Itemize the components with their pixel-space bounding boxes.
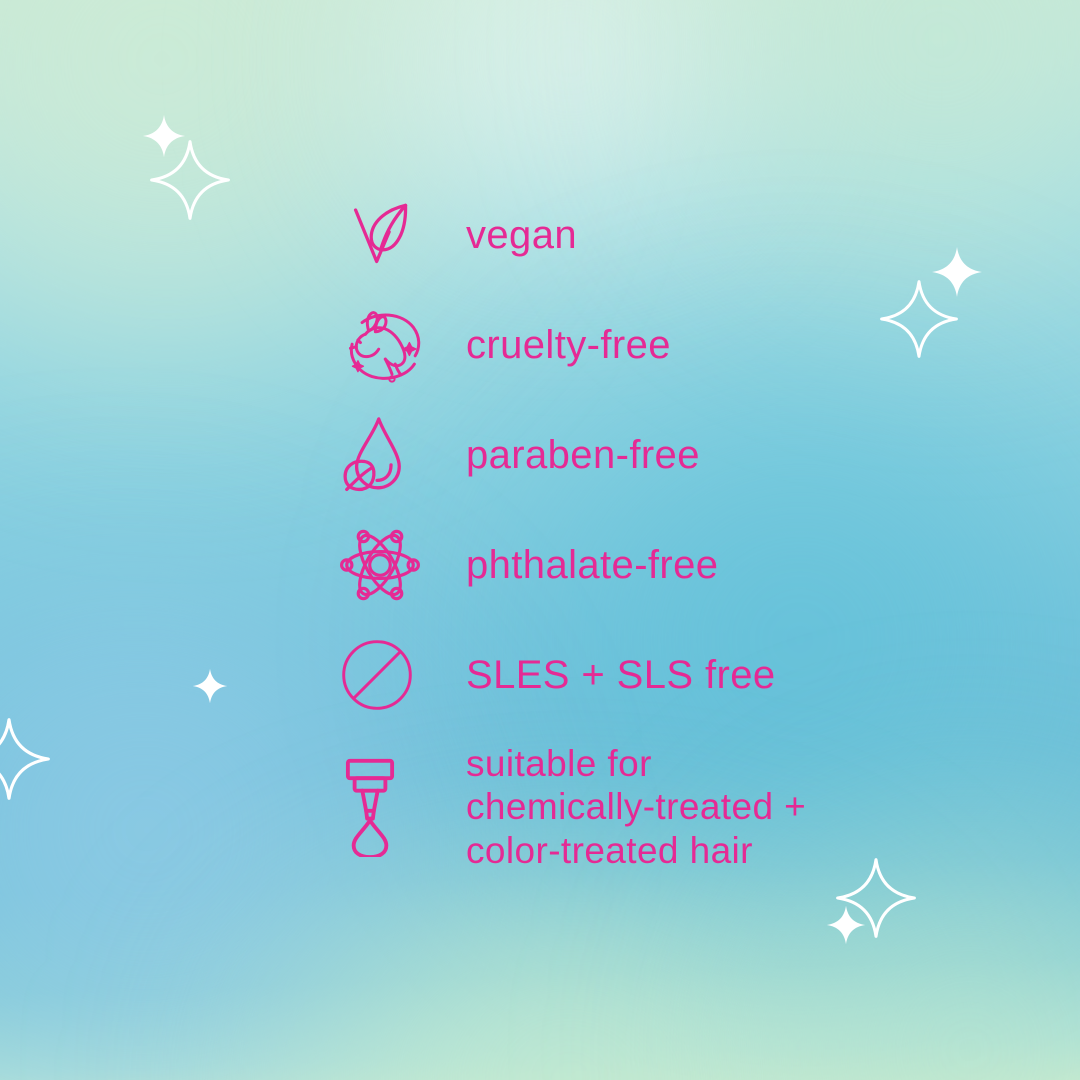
claim-label-paraben-free: paraben-free bbox=[466, 435, 700, 476]
claim-label-cruelty-free: cruelty-free bbox=[466, 325, 671, 366]
sparkle-bottom-right-small bbox=[826, 905, 866, 945]
claim-row-suitable-treated-hair: suitable for chemically-treated + color-… bbox=[340, 742, 1040, 872]
leaf-v-vegan-icon bbox=[340, 196, 426, 274]
claim-label-suitable-treated-hair: suitable for chemically-treated + color-… bbox=[466, 742, 806, 872]
dropper-pipette-icon bbox=[340, 757, 426, 857]
claims-list: vegancruelty-freeparaben-freephthalate-f… bbox=[340, 180, 1040, 872]
sparkle-top-left-large bbox=[150, 140, 230, 220]
sparkle-left-edge-large bbox=[0, 718, 50, 800]
claim-row-vegan: vegan bbox=[340, 180, 1040, 290]
sparkle-left-small bbox=[192, 668, 228, 704]
promo-graphic: vegancruelty-freeparaben-freephthalate-f… bbox=[0, 0, 1080, 1080]
prohibition-circle-icon bbox=[340, 638, 426, 712]
claim-label-phthalate-free: phthalate-free bbox=[466, 545, 718, 586]
leaping-bunny-cruelty-free-icon bbox=[340, 306, 426, 384]
claim-row-paraben-free: paraben-free bbox=[340, 400, 1040, 510]
claim-row-cruelty-free: cruelty-free bbox=[340, 290, 1040, 400]
droplet-leaf-icon bbox=[340, 414, 426, 496]
claim-row-sles-sls-free: SLES + SLS free bbox=[340, 620, 1040, 730]
claim-label-vegan: vegan bbox=[466, 215, 577, 256]
claim-row-phthalate-free: phthalate-free bbox=[340, 510, 1040, 620]
atom-icon bbox=[340, 527, 426, 603]
claim-label-sles-sls-free: SLES + SLS free bbox=[466, 655, 776, 696]
